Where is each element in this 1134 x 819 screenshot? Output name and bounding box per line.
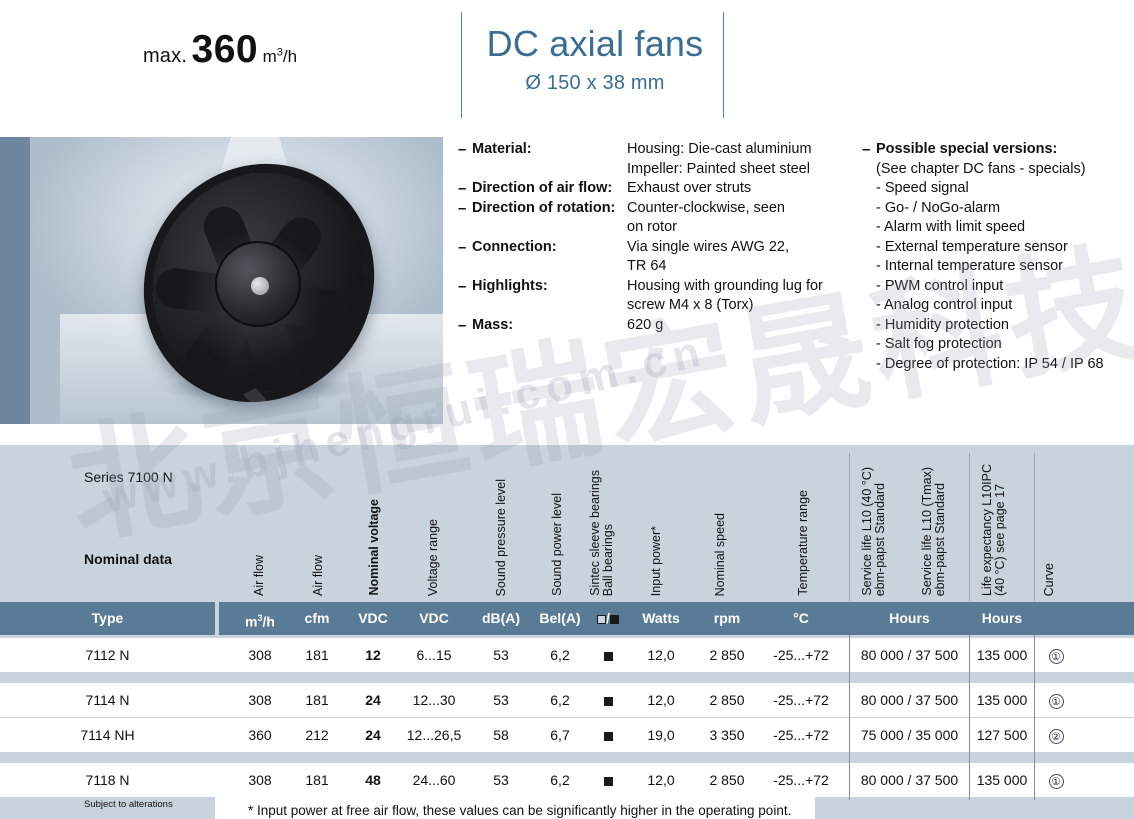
cell-sound-power: 6,2 (532, 683, 588, 717)
title-block: DC axial fans Ø 150 x 38 mm (470, 22, 720, 95)
list-item: - External temperature sensor (876, 238, 1134, 258)
cell-type: 7114 N (0, 683, 215, 717)
fan-hub-center (251, 277, 269, 295)
units-row: Type m3/h cfm VDC VDC dB(A) Bel(A) / Wat… (0, 602, 1134, 635)
cell-life-expectancy: 135 000 (971, 638, 1033, 672)
unit-input-power: Watts (630, 602, 692, 635)
input-power-footnote: * Input power at free air flow, these va… (248, 803, 791, 818)
cell-sound-pressure: 58 (474, 718, 528, 752)
cell-bearing (586, 718, 630, 752)
spec-key: Highlights: (472, 277, 627, 297)
spec-column-right: – Possible special versions: (See chapte… (862, 140, 1134, 374)
cell-bearing (586, 638, 630, 672)
table-divider (969, 635, 970, 800)
spec-value: Housing: Die-cast aluminium (627, 140, 858, 160)
cell-airflow-cfm: 181 (292, 763, 342, 797)
max-airflow-callout: max. 360 m3/h (0, 28, 440, 72)
col-title-input-power: Input power* (650, 526, 663, 596)
table-row: 7118 N 308 181 48 24...60 53 6,2 12,0 2 … (0, 763, 1134, 797)
cell-airflow-m3h: 308 (232, 683, 288, 717)
spec-column-left: – Material: Housing: Die-cast aluminium … (458, 140, 858, 335)
unit-voltage-range: VDC (406, 602, 462, 635)
list-item: - Internal temperature sensor (876, 257, 1134, 277)
cell-nominal-voltage: 12 (348, 638, 398, 672)
cell-bearing (586, 683, 630, 717)
spec-item: – Material: Housing: Die-cast aluminium (458, 140, 858, 160)
cell-type: 7114 NH (0, 718, 215, 752)
cell-nominal-voltage: 48 (348, 763, 398, 797)
cell-airflow-m3h: 308 (232, 638, 288, 672)
spec-value-cont: TR 64 (627, 257, 858, 277)
spec-item: – Direction of air flow: Exhaust over st… (458, 179, 858, 199)
unit-life-expectancy: Hours (971, 602, 1033, 635)
spec-key: Mass: (472, 316, 627, 336)
spec-value-cont: Impeller: Painted sheet steel (627, 160, 858, 180)
col-title-service-life-40c-sub: ebm-papst Standard (874, 483, 887, 596)
cell-bearing (586, 763, 630, 797)
cell-voltage-range: 12...30 (406, 683, 462, 717)
ball-bearing-icon (604, 652, 613, 661)
ball-bearing-icon (604, 697, 613, 706)
bullet-dash-icon: – (458, 199, 472, 219)
spec-value: Exhaust over struts (627, 179, 858, 199)
cell-service-life: 80 000 / 37 500 (852, 638, 967, 672)
spec-value-cont: on rotor (627, 218, 858, 238)
cell-life-expectancy: 135 000 (971, 683, 1033, 717)
cell-sound-power: 6,2 (532, 638, 588, 672)
table-row: 7114 N 308 181 24 12...30 53 6,2 12,0 2 … (0, 683, 1134, 717)
spec-item: – Direction of rotation: Counter-clockwi… (458, 199, 858, 219)
series-label: Series 7100 N (84, 469, 173, 485)
cell-type: 7112 N (0, 638, 215, 672)
unit-temperature: °C (770, 602, 832, 635)
curve-number: ① (1049, 694, 1064, 709)
cell-input-power: 12,0 (630, 683, 692, 717)
spec-item: – Connection: Via single wires AWG 22, (458, 238, 858, 258)
list-item: - Go- / NoGo-alarm (876, 199, 1134, 219)
nominal-data-label: Nominal data (84, 551, 172, 567)
cell-service-life: 80 000 / 37 500 (852, 683, 967, 717)
spec-value: Housing with grounding lug for (627, 277, 858, 297)
cell-life-expectancy: 135 000 (971, 763, 1033, 797)
col-title-curve: Curve (1043, 563, 1056, 596)
header-divider (849, 453, 850, 601)
list-item: - Salt fog protection (876, 335, 1134, 355)
unit-service-life: Hours (852, 602, 967, 635)
cell-input-power: 12,0 (630, 763, 692, 797)
subject-to-alterations: Subject to alterations (84, 799, 173, 810)
cell-nominal-voltage: 24 (348, 683, 398, 717)
ball-bearing-icon (604, 777, 613, 786)
cell-sound-pressure: 53 (474, 638, 528, 672)
curve-number: ① (1049, 649, 1064, 664)
cell-airflow-cfm: 181 (292, 638, 342, 672)
cell-sound-pressure: 53 (474, 683, 528, 717)
curve-number: ① (1049, 774, 1064, 789)
bullet-dash-icon: – (458, 277, 472, 297)
cell-nominal-speed: 3 350 (698, 718, 756, 752)
bullet-dash-icon: – (862, 140, 876, 160)
page-header: max. 360 m3/h DC axial fans Ø 150 x 38 m… (0, 0, 1134, 132)
cell-input-power: 19,0 (630, 718, 692, 752)
fan-hub (215, 241, 301, 327)
cell-sound-pressure: 53 (474, 763, 528, 797)
fan-illustration (135, 159, 385, 407)
list-item: - Analog control input (876, 296, 1134, 316)
cell-nominal-speed: 2 850 (698, 683, 756, 717)
spec-key: Direction of air flow: (472, 179, 627, 199)
bullet-dash-icon: – (458, 140, 472, 160)
list-item: - Alarm with limit speed (876, 218, 1134, 238)
cell-life-expectancy: 127 500 (971, 718, 1033, 752)
cell-curve: ② (1036, 718, 1076, 752)
bullet-dash-icon: – (458, 179, 472, 199)
product-photo (0, 137, 443, 424)
photo-background (30, 137, 443, 424)
cell-temp-range: -25...+72 (770, 718, 832, 752)
cell-temp-range: -25...+72 (770, 638, 832, 672)
spec-item: – Highlights: Housing with grounding lug… (458, 277, 858, 297)
col-title-temperature-range: Temperature range (797, 490, 810, 596)
sleeve-bearing-icon (597, 615, 606, 624)
cell-service-life: 75 000 / 35 000 (852, 718, 967, 752)
header-divider-right (723, 12, 724, 118)
unit-curve (1036, 602, 1134, 635)
table-divider (1034, 635, 1035, 800)
spec-value: Counter-clockwise, seen (627, 199, 858, 219)
cell-airflow-m3h: 308 (232, 763, 288, 797)
cell-airflow-m3h: 360 (232, 718, 288, 752)
col-title-life-expectancy-sub: (40 °C) see page 17 (994, 484, 1007, 596)
special-versions-note: (See chapter DC fans - specials) (876, 160, 1134, 180)
unit-airflow-m3h: m3/h (232, 602, 288, 635)
col-title-sound-pressure-level: Sound pressure level (495, 479, 508, 596)
unit-nominal-voltage: VDC (348, 602, 398, 635)
page-title: DC axial fans (470, 22, 720, 66)
table-divider (849, 635, 850, 800)
cell-nominal-speed: 2 850 (698, 638, 756, 672)
col-title-sound-power-level: Sound power level (551, 493, 564, 596)
spec-value: 620 g (627, 316, 858, 336)
special-versions-title: Possible special versions: (876, 140, 1057, 160)
ball-bearing-icon (604, 732, 613, 741)
table-row: 7114 NH 360 212 24 12...26,5 58 6,7 19,0… (0, 718, 1134, 752)
col-title-nominal-voltage: Nominal voltage (368, 499, 381, 596)
cell-nominal-voltage: 24 (348, 718, 398, 752)
col-title-voltage-range: Voltage range (427, 519, 440, 596)
units-gap (215, 602, 219, 635)
cell-sound-power: 6,7 (532, 718, 588, 752)
col-title-ball-bearings: Ball bearings (602, 524, 615, 596)
spec-item: – Mass: 620 g (458, 316, 858, 336)
unit-type: Type (0, 602, 215, 635)
spec-key: Material: (472, 140, 627, 160)
list-item: - Speed signal (876, 179, 1134, 199)
nominal-data-table: Series 7100 N Nominal data Air flow Air … (0, 445, 1134, 819)
bullet-dash-icon: – (458, 238, 472, 258)
special-versions-list: - Speed signal - Go- / NoGo-alarm - Alar… (876, 179, 1134, 374)
cell-voltage-range: 24...60 (406, 763, 462, 797)
cell-airflow-cfm: 181 (292, 683, 342, 717)
datasheet-page: max. 360 m3/h DC axial fans Ø 150 x 38 m… (0, 0, 1134, 819)
max-value: 360 (192, 28, 259, 71)
special-versions-header: – Possible special versions: (862, 140, 1134, 160)
col-title-service-life-tmax-sub: ebm-papst Standard (934, 483, 947, 596)
col-title-airflow-cfm: Air flow (312, 555, 325, 596)
table-footnote-row: Subject to alterations * Input power at … (0, 797, 1134, 819)
cell-airflow-cfm: 212 (292, 718, 342, 752)
header-divider-left (461, 12, 462, 118)
list-item: - PWM control input (876, 277, 1134, 297)
cell-curve: ① (1036, 638, 1076, 672)
unit-sound-pressure: dB(A) (474, 602, 528, 635)
photo-side-band (0, 137, 30, 424)
spec-value-cont: screw M4 x 8 (Torx) (627, 296, 858, 316)
list-item: - Degree of protection: IP 54 / IP 68 (876, 355, 1134, 375)
cell-curve: ① (1036, 763, 1076, 797)
cell-sound-power: 6,2 (532, 763, 588, 797)
bullet-dash-icon: – (458, 316, 472, 336)
cell-curve: ① (1036, 683, 1076, 717)
max-prefix: max. (143, 45, 187, 67)
cell-type: 7118 N (0, 763, 215, 797)
max-unit: m3/h (263, 47, 297, 66)
unit-sound-power: Bel(A) (532, 602, 588, 635)
unit-nominal-speed: rpm (698, 602, 756, 635)
col-title-airflow-m3h: Air flow (253, 555, 266, 596)
cell-voltage-range: 12...26,5 (406, 718, 462, 752)
table-header: Series 7100 N Nominal data Air flow Air … (0, 445, 1134, 602)
unit-airflow-cfm: cfm (292, 602, 342, 635)
unit-bearings: / (586, 602, 630, 635)
cell-service-life: 80 000 / 37 500 (852, 763, 967, 797)
cell-temp-range: -25...+72 (770, 763, 832, 797)
col-title-nominal-speed: Nominal speed (714, 513, 727, 596)
cell-nominal-speed: 2 850 (698, 763, 756, 797)
ball-bearing-icon (610, 615, 619, 624)
spec-key: Connection: (472, 238, 627, 258)
page-subtitle: Ø 150 x 38 mm (470, 72, 720, 95)
header-divider (969, 453, 970, 601)
cell-temp-range: -25...+72 (770, 683, 832, 717)
curve-number: ② (1049, 729, 1064, 744)
cell-voltage-range: 6...15 (406, 638, 462, 672)
spec-key: Direction of rotation: (472, 199, 627, 219)
list-item: - Humidity protection (876, 316, 1134, 336)
cell-input-power: 12,0 (630, 638, 692, 672)
table-row: 7112 N 308 181 12 6...15 53 6,2 12,0 2 8… (0, 638, 1134, 672)
header-divider (1034, 453, 1035, 601)
spec-value: Via single wires AWG 22, (627, 238, 858, 258)
